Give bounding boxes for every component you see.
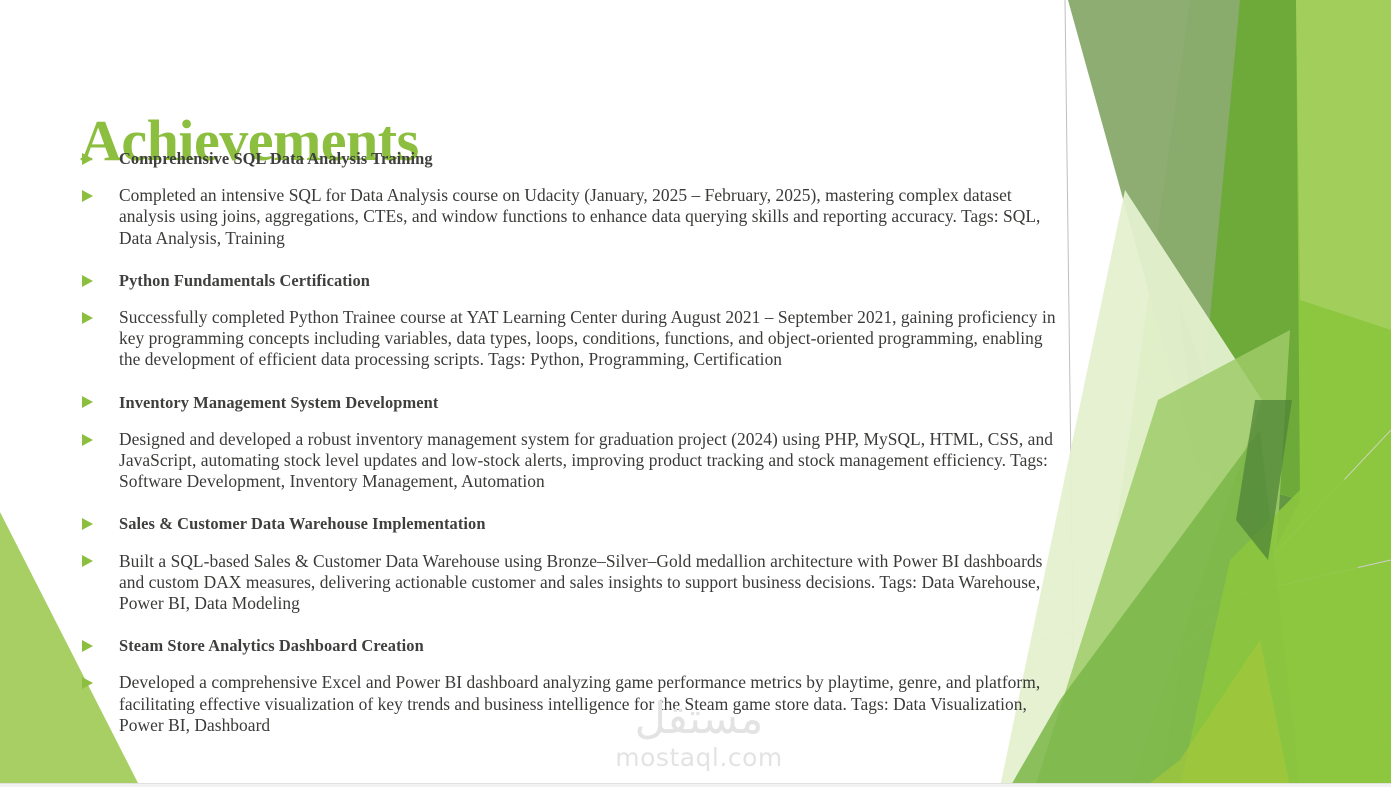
list-item: Successfully completed Python Trainee co… [78, 307, 1068, 371]
list-item-label: Completed an intensive SQL for Data Anal… [119, 185, 1068, 249]
list-item-label: Successfully completed Python Trainee co… [119, 307, 1068, 371]
list-item-label: Developed a comprehensive Excel and Powe… [119, 672, 1068, 736]
deco-sage-triangle [1068, 0, 1252, 470]
deco-dark-band [1196, 0, 1300, 500]
deco-hairline-2 [1055, 430, 1391, 787]
triangle-right-icon [82, 396, 93, 408]
list-item: Comprehensive SQL Data Analysis Training [78, 148, 1068, 169]
achievements-bullet-list: Comprehensive SQL Data Analysis Training… [78, 148, 1068, 736]
list-item: Python Fundamentals Certification [78, 270, 1068, 291]
deco-deep-triangle [1178, 300, 1300, 560]
triangle-right-icon [82, 312, 93, 324]
list-item: Developed a comprehensive Excel and Powe… [78, 672, 1068, 736]
deco-bottom-accent [1145, 640, 1290, 787]
list-item-label: Built a SQL-based Sales & Customer Data … [119, 551, 1068, 615]
triangle-right-icon [82, 555, 93, 567]
triangle-right-icon [82, 153, 93, 165]
list-item: Steam Store Analytics Dashboard Creation [78, 635, 1068, 656]
list-item-label: Inventory Management System Development [119, 392, 1068, 413]
slide-canvas: Achievements Comprehensive SQL Data Anal… [0, 0, 1391, 787]
list-item-label: Sales & Customer Data Warehouse Implemen… [119, 513, 1068, 534]
list-item-label: Comprehensive SQL Data Analysis Training [119, 148, 1068, 169]
list-item: Sales & Customer Data Warehouse Implemen… [78, 513, 1068, 534]
slide-bottom-edge [0, 783, 1391, 787]
deco-right-field-1 [1080, 0, 1391, 787]
list-item-label: Python Fundamentals Certification [119, 270, 1068, 291]
list-item-label: Steam Store Analytics Dashboard Creation [119, 635, 1068, 656]
triangle-right-icon [82, 640, 93, 652]
deco-hairline-3 [1040, 560, 1391, 640]
list-item-label: Designed and developed a robust inventor… [119, 429, 1068, 493]
deco-bright-accent [1180, 450, 1391, 787]
triangle-right-icon [82, 190, 93, 202]
deco-right-field-2 [1160, 0, 1391, 787]
list-item: Inventory Management System Development [78, 392, 1068, 413]
list-item: Designed and developed a robust inventor… [78, 429, 1068, 493]
deco-top-light [1296, 0, 1391, 330]
deco-overlap-sliver [1236, 400, 1292, 560]
triangle-right-icon [82, 677, 93, 689]
triangle-right-icon [82, 275, 93, 287]
list-item: Completed an intensive SQL for Data Anal… [78, 185, 1068, 249]
triangle-right-icon [82, 518, 93, 530]
list-item: Built a SQL-based Sales & Customer Data … [78, 551, 1068, 615]
triangle-right-icon [82, 434, 93, 446]
slide-content: Achievements Comprehensive SQL Data Anal… [0, 0, 1080, 787]
